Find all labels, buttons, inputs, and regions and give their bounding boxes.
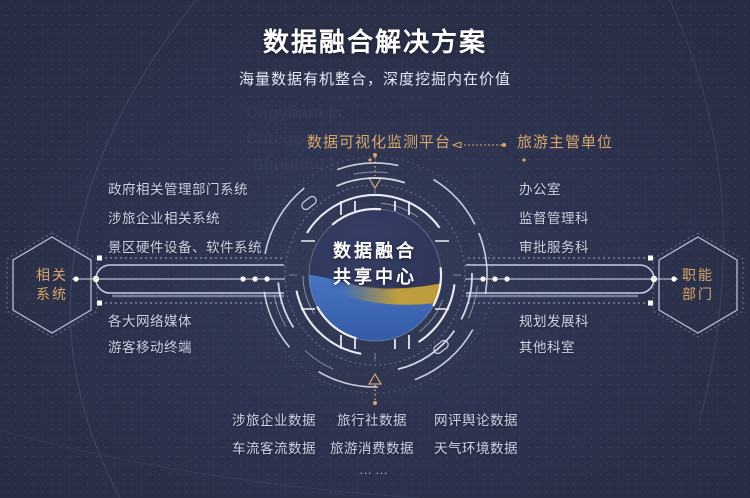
core-data-fusion-sphere[interactable]: 数据融合 共享中心: [255, 155, 495, 395]
bottom-label-r1c3: 网评舆论数据: [434, 409, 518, 429]
bottom-label-r1c2: 旅行社数据: [337, 409, 407, 429]
left-label-1: 政府相关管理部门系统: [108, 178, 248, 198]
left-label-5: 游客移动终端: [108, 336, 192, 356]
hexagon-left-text: 相关 系统: [6, 233, 98, 337]
hexagon-related-systems[interactable]: 相关 系统: [6, 233, 98, 337]
hexagon-right-line1: 职能: [682, 266, 714, 285]
right-label-2: 监督管理科: [519, 207, 589, 227]
hexagon-left-line1: 相关: [36, 266, 68, 285]
right-label-5: 其他科室: [519, 336, 575, 356]
bg-code-line-4: p_id: [188, 347, 221, 364]
hexagon-functional-departments[interactable]: 职能 部门: [652, 233, 744, 337]
hexagon-right-line2: 部门: [682, 285, 714, 304]
page-title: 数据融合解决方案: [0, 22, 750, 59]
bg-code-line-1: Capybara.ja: [246, 103, 343, 122]
header-tourism-authority: 旅游主管单位: [517, 131, 613, 152]
left-label-3: 景区硬件设备、软件系统: [108, 236, 262, 256]
bottom-label-r2c3: 天气环境数据: [434, 437, 518, 457]
header-connector-arrow: [452, 142, 508, 148]
infographic-canvas: Capybara.ja Category: d Shoulda: h p_id …: [0, 0, 750, 498]
page-subtitle: 海量数据有机整合，深度挖掘内在价值: [0, 68, 750, 89]
header-visualization-platform: 数据可视化监测平台: [307, 131, 451, 152]
bottom-label-r2c1: 车流客流数据: [232, 437, 316, 457]
core-rings: [255, 155, 495, 395]
hexagon-left-line2: 系统: [36, 285, 68, 304]
bottom-ellipsis: ……: [0, 462, 750, 477]
right-label-1: 办公室: [519, 178, 561, 198]
bottom-label-r1c1: 涉旅企业数据: [232, 409, 316, 429]
right-label-3: 审批服务科: [519, 236, 589, 256]
left-label-2: 涉旅企业相关系统: [108, 207, 220, 227]
left-label-4: 各大网络媒体: [108, 310, 192, 330]
hexagon-right-text: 职能 部门: [652, 233, 744, 337]
right-label-4: 规划发展科: [519, 310, 589, 330]
bottom-label-r2c2: 旅游消费数据: [330, 437, 414, 457]
